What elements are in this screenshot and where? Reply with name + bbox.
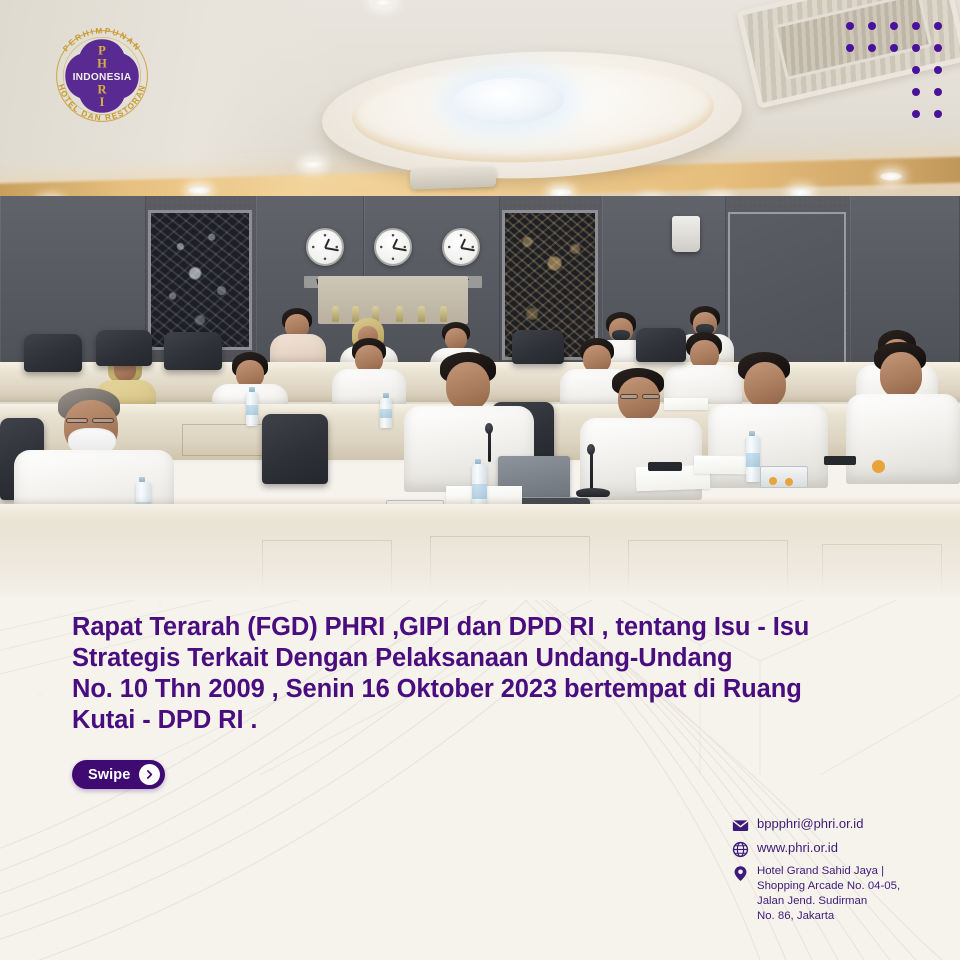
wall-clock-wita [374,228,412,266]
microphone-head [587,444,595,455]
svg-text:INDONESIA: INDONESIA [73,72,132,83]
chair [24,334,82,372]
headline-text: Rapat Terarah (FGD) PHRI ,GIPI dan DPD R… [72,612,902,736]
carving-texture [151,213,249,347]
swipe-button-label: Swipe [88,767,130,783]
contact-address: Hotel Grand Sahid Jaya | Shopping Arcade… [757,864,900,924]
trophy-shelf [318,276,468,324]
wall-speaker [672,216,700,252]
microphone-base [576,488,610,497]
svg-text:I: I [100,95,105,109]
svg-text:H: H [97,56,107,70]
downlight-icon [372,0,394,7]
downlight-icon [880,172,902,181]
map-pin-icon [732,865,749,882]
phri-logo: PERHIMPUNAN HOTEL DAN RESTORAN P H R I I… [44,18,160,134]
carved-wall-art-left [148,210,252,350]
chair [164,332,222,370]
wall-clock-wib [306,228,344,266]
poster-canvas: WIB WITA WIT [0,0,960,960]
chair [96,330,152,366]
snack-item [872,460,885,473]
wall-clock-wit [442,228,480,266]
water-bottle [746,436,760,482]
swipe-button[interactable]: Swipe [72,760,165,789]
downlight-icon [302,160,324,169]
chevron-right-icon [139,764,160,785]
attendee-far-right [846,342,960,476]
snack-box [760,466,808,488]
trophy [440,306,447,322]
mobile-phone [824,456,856,465]
envelope-icon [732,817,749,834]
mobile-phone [648,462,682,471]
contact-row-website[interactable]: www.phri.or.id [732,840,947,858]
water-bottle [246,392,258,426]
contact-block: bppphri@phri.or.id www.phri.or.id [732,816,947,930]
contact-website: www.phri.or.id [757,840,838,855]
contact-email: bppphri@phri.or.id [757,816,863,831]
contact-row-address: Hotel Grand Sahid Jaya | Shopping Arcade… [732,864,947,924]
microphone-head [485,423,493,434]
trophy [418,306,425,322]
trophy [332,306,339,322]
chair [636,328,686,362]
microphone-stem [488,430,491,462]
contact-row-email[interactable]: bppphri@phri.or.id [732,816,947,834]
globe-icon [732,841,749,858]
ceiling-projector [410,167,497,190]
downlight-icon [188,186,210,195]
water-bottle [380,398,392,428]
photo-bottom-fade [0,510,960,600]
chair [262,414,328,484]
